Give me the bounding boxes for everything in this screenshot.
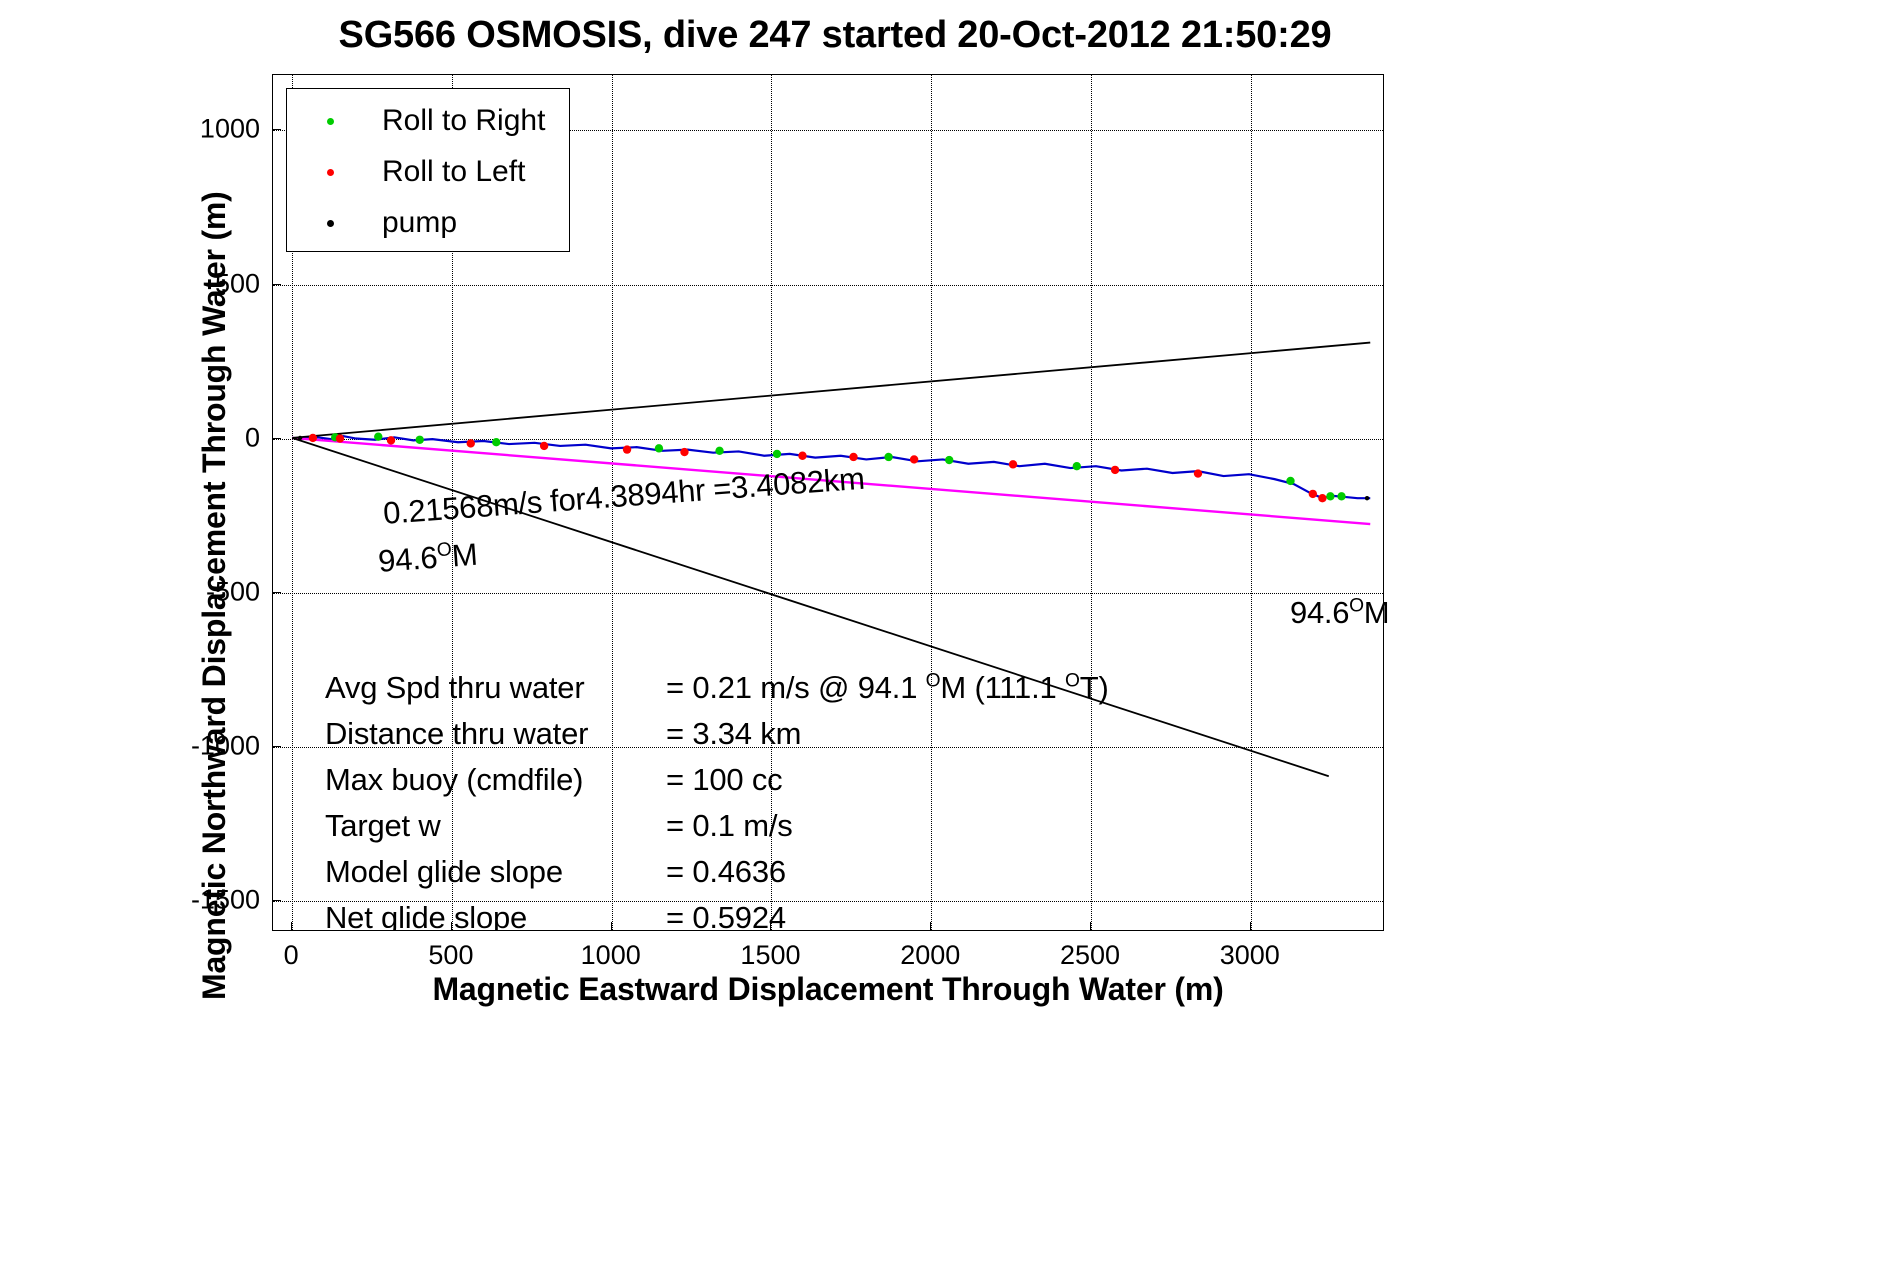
stats-row-label: Model glide slope xyxy=(325,854,563,890)
legend-marker-dot-icon xyxy=(327,220,334,227)
data-marker-roll-left xyxy=(910,455,918,463)
x-tick-label: 1500 xyxy=(740,940,800,971)
legend-item-label: Roll to Right xyxy=(382,104,545,138)
data-marker-roll-right xyxy=(773,450,781,458)
data-marker-roll-left xyxy=(1309,490,1317,498)
data-marker-roll-left xyxy=(1111,466,1119,474)
data-marker-roll-right xyxy=(1337,492,1345,500)
y-tick-label: -1000 xyxy=(150,731,260,762)
data-marker-roll-left xyxy=(1194,469,1202,477)
data-marker-roll-left xyxy=(623,445,631,453)
stats-row-label: Net glide slope xyxy=(325,900,527,931)
legend-item-label: Roll to Left xyxy=(382,155,525,189)
y-tick-mark xyxy=(272,592,281,593)
y-tick-label: -500 xyxy=(150,576,260,607)
data-marker-roll-right xyxy=(715,447,723,455)
data-marker-roll-left xyxy=(1318,494,1326,502)
stats-row-label: Distance thru water xyxy=(325,716,588,752)
data-marker-roll-right xyxy=(655,444,663,452)
data-marker-roll-left xyxy=(798,452,806,460)
stats-row-label: Max buoy (cmdfile) xyxy=(325,762,583,798)
page-title: SG566 OSMOSIS, dive 247 started 20-Oct-2… xyxy=(185,14,1485,57)
gridline-vertical xyxy=(1091,75,1092,930)
data-marker-roll-left xyxy=(540,442,548,450)
stats-row-value: = 0.21 m/s @ 94.1 OM (111.1 OT) xyxy=(666,670,1109,706)
data-marker-roll-left xyxy=(1009,460,1017,468)
legend-item[interactable]: Roll to Right xyxy=(287,95,569,147)
annotation-heading-right: 94.6OM xyxy=(1290,595,1389,631)
x-tick-label: 2000 xyxy=(900,940,960,971)
data-marker-roll-right xyxy=(1286,477,1294,485)
y-tick-mark xyxy=(272,900,281,901)
y-tick-mark xyxy=(272,284,281,285)
y-tick-label: -1500 xyxy=(150,885,260,916)
data-marker-roll-right xyxy=(1326,492,1334,500)
data-marker-roll-right xyxy=(1073,462,1081,470)
gridline-vertical xyxy=(1251,75,1252,930)
data-marker-roll-left xyxy=(680,448,688,456)
data-marker-roll-left xyxy=(467,439,475,447)
data-marker-roll-right xyxy=(331,433,339,441)
stats-row-label: Target w xyxy=(325,808,441,844)
x-tick-label: 0 xyxy=(284,940,299,971)
legend-marker-dot-icon xyxy=(327,118,334,125)
data-series-line xyxy=(292,343,1370,438)
x-tick-mark xyxy=(611,922,612,931)
stats-row-value: = 100 cc xyxy=(666,762,782,798)
data-marker-roll-right xyxy=(416,436,424,444)
y-tick-mark xyxy=(272,129,281,130)
y-tick-label: 1000 xyxy=(150,114,260,145)
y-tick-mark xyxy=(272,746,281,747)
stats-row-label: Avg Spd thru water xyxy=(325,670,584,706)
stats-row-value: = 0.1 m/s xyxy=(666,808,793,844)
legend-item[interactable]: pump xyxy=(287,197,569,249)
annotation-heading-origin: 94.6OM xyxy=(377,537,479,580)
stats-row-value: = 0.4636 xyxy=(666,854,786,890)
legend-box: Roll to RightRoll to Leftpump xyxy=(286,88,570,252)
y-tick-mark xyxy=(272,438,281,439)
data-marker-pump xyxy=(1365,496,1369,500)
x-tick-mark xyxy=(930,922,931,931)
gridline-horizontal xyxy=(273,593,1383,594)
x-tick-label: 500 xyxy=(428,940,473,971)
x-tick-mark xyxy=(291,922,292,931)
x-tick-label: 1000 xyxy=(581,940,641,971)
x-tick-label: 3000 xyxy=(1220,940,1280,971)
y-tick-label: 0 xyxy=(150,422,260,453)
legend-marker-dot-icon xyxy=(327,169,334,176)
data-marker-roll-right xyxy=(884,453,892,461)
legend-item-label: pump xyxy=(382,206,457,240)
y-tick-label: 500 xyxy=(150,268,260,299)
gridline-vertical xyxy=(931,75,932,930)
gridline-horizontal xyxy=(273,285,1383,286)
figure-canvas: SG566 OSMOSIS, dive 247 started 20-Oct-2… xyxy=(0,0,1891,1262)
stats-row-value: = 0.5924 xyxy=(666,900,786,931)
data-marker-roll-right xyxy=(945,456,953,464)
data-marker-roll-left xyxy=(387,436,395,444)
data-marker-roll-left xyxy=(849,453,857,461)
x-tick-mark xyxy=(1090,922,1091,931)
gridline-horizontal xyxy=(273,439,1383,440)
x-tick-label: 2500 xyxy=(1060,940,1120,971)
x-axis-label: Magnetic Eastward Displacement Through W… xyxy=(272,971,1384,1008)
stats-row-value: = 3.34 km xyxy=(666,716,801,752)
legend-item[interactable]: Roll to Left xyxy=(287,146,569,198)
x-tick-mark xyxy=(1250,922,1251,931)
